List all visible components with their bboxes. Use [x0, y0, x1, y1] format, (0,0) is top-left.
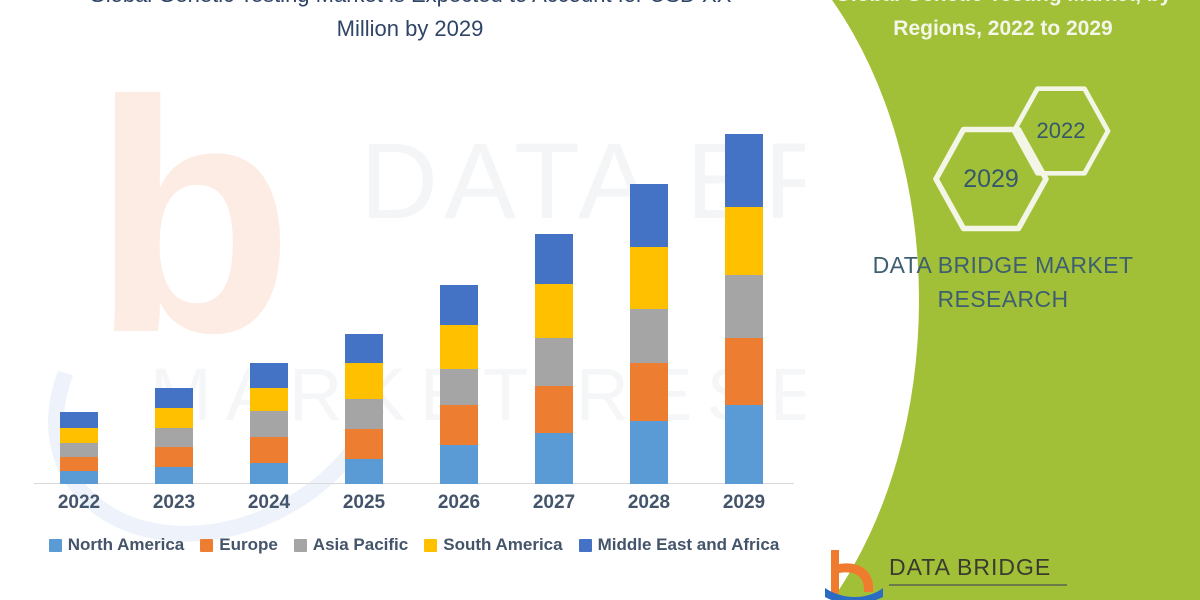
infographic-canvas: b DATA BRIDGE MARKET RESEARCH Global Gen… — [0, 0, 1200, 600]
bar-group — [509, 110, 599, 484]
x-axis-tick-label: 2027 — [509, 492, 599, 514]
bar-segment[interactable] — [440, 445, 478, 484]
bar-group — [224, 110, 314, 484]
legend-swatch-icon — [579, 539, 592, 552]
bar-segment[interactable] — [345, 334, 383, 363]
bar-segment[interactable] — [725, 405, 763, 484]
x-axis-labels: 20222023202420252026202720282029 — [34, 492, 794, 522]
bar-segment[interactable] — [250, 363, 288, 388]
bar-segment[interactable] — [725, 207, 763, 276]
bar-group — [604, 110, 694, 484]
bar-segment[interactable] — [345, 363, 383, 399]
bar-segment[interactable] — [60, 471, 98, 484]
legend-item[interactable]: Asia Pacific — [294, 535, 408, 555]
x-axis-tick-label: 2028 — [604, 492, 694, 514]
plot-area — [34, 110, 794, 484]
bar-segment[interactable] — [155, 408, 193, 428]
bar-segment[interactable] — [535, 386, 573, 433]
bar-segment[interactable] — [155, 388, 193, 409]
bar-group — [414, 110, 504, 484]
bar-segment[interactable] — [725, 338, 763, 405]
stacked-bar[interactable] — [60, 412, 98, 484]
bar-segment[interactable] — [440, 285, 478, 325]
bar-group — [34, 110, 124, 484]
legend-swatch-icon — [294, 539, 307, 552]
logo-mark-icon — [823, 548, 885, 600]
legend-label: South America — [443, 535, 562, 555]
bar-group — [319, 110, 409, 484]
bar-segment[interactable] — [725, 134, 763, 207]
stacked-bar[interactable] — [250, 363, 288, 484]
bar-segment[interactable] — [155, 467, 193, 484]
bar-segment[interactable] — [630, 309, 668, 363]
bar-segment[interactable] — [535, 284, 573, 338]
bar-segment[interactable] — [60, 457, 98, 471]
logo-wordmark: DATA BRIDGE — [889, 554, 1051, 581]
x-axis-tick-label: 2029 — [699, 492, 789, 514]
bar-segment[interactable] — [725, 275, 763, 338]
x-axis-tick-label: 2022 — [34, 492, 124, 514]
bar-segment[interactable] — [345, 399, 383, 429]
stacked-bar[interactable] — [535, 234, 573, 484]
stacked-bar[interactable] — [725, 134, 763, 484]
legend-item[interactable]: South America — [424, 535, 562, 555]
stacked-bar[interactable] — [155, 388, 193, 484]
legend-item[interactable]: Middle East and Africa — [579, 535, 780, 555]
company-logo: DATA BRIDGE — [823, 548, 1183, 600]
legend-label: North America — [68, 535, 185, 555]
x-axis-tick-label: 2026 — [414, 492, 504, 514]
bar-segment[interactable] — [535, 338, 573, 386]
bar-segment[interactable] — [630, 421, 668, 484]
bar-segment[interactable] — [155, 447, 193, 467]
bar-segment[interactable] — [535, 234, 573, 284]
logo-underline — [889, 584, 1067, 586]
hexagon-label-2022: 2022 — [1037, 118, 1086, 144]
brand-panel: Global Genetic Testing Market, by Region… — [805, 0, 1200, 600]
bar-segment[interactable] — [345, 429, 383, 459]
bar-segment[interactable] — [250, 388, 288, 411]
stacked-bar[interactable] — [440, 285, 478, 484]
bar-group — [129, 110, 219, 484]
bar-segment[interactable] — [535, 433, 573, 484]
legend-item[interactable]: Europe — [200, 535, 278, 555]
bar-segment[interactable] — [630, 363, 668, 421]
bar-segment[interactable] — [155, 428, 193, 447]
bar-segment[interactable] — [250, 463, 288, 484]
chart-title: Global Genetic Testing Market is Expecte… — [70, 0, 750, 46]
stacked-bar[interactable] — [630, 184, 668, 484]
legend-label: Middle East and Africa — [598, 535, 780, 555]
hexagon-label-2029: 2029 — [963, 165, 1019, 194]
legend-label: Asia Pacific — [313, 535, 408, 555]
hexagon-badge-2022: 2022 — [1011, 84, 1111, 178]
bar-segment[interactable] — [250, 437, 288, 463]
hexagon-badges: 2029 2022 — [915, 92, 1145, 237]
bar-segment[interactable] — [250, 411, 288, 437]
bar-segment[interactable] — [60, 428, 98, 443]
legend-item[interactable]: North America — [49, 535, 185, 555]
legend-label: Europe — [219, 535, 278, 555]
legend-swatch-icon — [49, 539, 62, 552]
legend-swatch-icon — [424, 539, 437, 552]
legend-swatch-icon — [200, 539, 213, 552]
bar-segment[interactable] — [60, 412, 98, 428]
stacked-bar[interactable] — [345, 334, 383, 484]
bar-segment[interactable] — [440, 369, 478, 405]
x-axis-tick-label: 2023 — [129, 492, 219, 514]
bar-segment[interactable] — [440, 325, 478, 369]
bar-segment[interactable] — [440, 405, 478, 445]
bar-segment[interactable] — [630, 184, 668, 247]
bar-segment[interactable] — [60, 443, 98, 457]
x-axis-tick-label: 2025 — [319, 492, 409, 514]
x-axis-tick-label: 2024 — [224, 492, 314, 514]
bar-group — [699, 110, 789, 484]
chart-legend: North AmericaEuropeAsia PacificSouth Ame… — [34, 535, 794, 555]
bar-segment[interactable] — [630, 247, 668, 310]
bar-segment[interactable] — [345, 459, 383, 484]
brand-panel-title: Global Genetic Testing Market, by Region… — [827, 0, 1179, 46]
chart-panel: b DATA BRIDGE MARKET RESEARCH Global Gen… — [0, 0, 830, 600]
brand-name: DATA BRIDGE MARKET RESEARCH — [827, 248, 1179, 316]
